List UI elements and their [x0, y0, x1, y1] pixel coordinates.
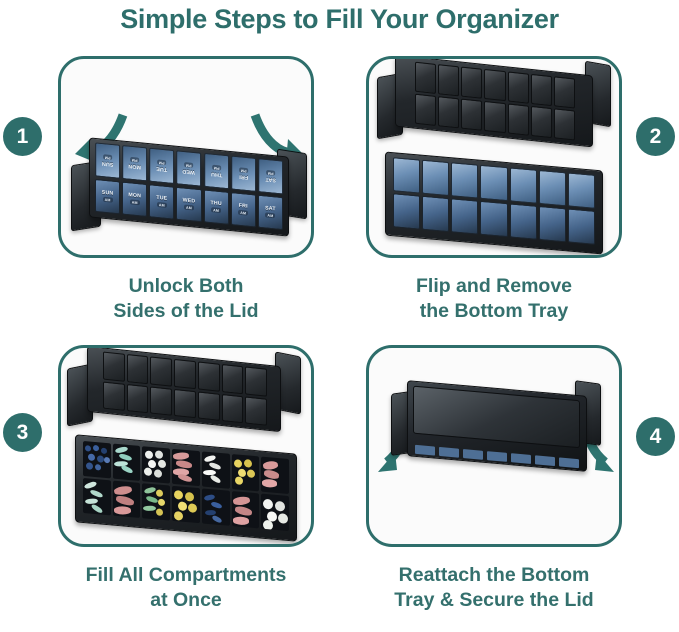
period-label: AM — [265, 213, 275, 219]
filled-cell-yellow-round — [172, 486, 200, 523]
lid-cell — [415, 62, 436, 94]
period-label: PM — [238, 168, 248, 174]
filled-cell-pink-tablets — [261, 457, 289, 494]
filled-tray-assembly — [75, 434, 297, 541]
lid-cell — [508, 71, 529, 103]
day-label: TUE — [156, 166, 167, 173]
filled-cell-pink-caplets — [172, 449, 200, 486]
closed-organizer — [407, 380, 587, 472]
filled-cell-yellow-tablets — [232, 454, 260, 491]
day-label: TUE — [156, 195, 167, 202]
period-label: PM — [157, 160, 167, 166]
lid-cell — [438, 96, 459, 128]
day-label: THU — [211, 200, 222, 207]
tray-cell — [539, 170, 566, 206]
filled-cell-white-capsules — [202, 451, 230, 488]
lid-cell — [103, 381, 125, 411]
lid-cell — [150, 386, 172, 416]
step-3-caption: Fill All Compartments at Once — [58, 563, 314, 612]
lid-cell — [484, 69, 505, 101]
lid-cell — [198, 361, 220, 391]
step-2-caption-line-2: the Bottom Tray — [366, 299, 622, 324]
filled-cell-green-capsules — [113, 444, 141, 481]
period-label: PM — [184, 162, 194, 168]
tray-cell — [539, 206, 566, 242]
lid-cell — [103, 351, 125, 381]
compartment-am-thu: THU AM — [204, 189, 229, 225]
tray-cell — [568, 172, 595, 208]
period-label: AM — [157, 202, 167, 208]
step-2-caption: Flip and Remove the Bottom Tray — [366, 274, 622, 323]
lid-cell — [484, 101, 505, 133]
filled-cell-white-tablets — [142, 446, 170, 483]
filled-cell-blue-capsules — [202, 488, 230, 525]
lid-cell — [554, 76, 575, 108]
period-label: AM — [211, 207, 221, 213]
lid-and-tray-separated-scene — [369, 59, 619, 255]
lid-cell — [174, 388, 196, 418]
period-label: AM — [130, 200, 140, 206]
step-number-badge-3: 3 — [3, 413, 42, 452]
organizer-closed-scene: SUN PM MON PM TUE PM — [61, 59, 311, 255]
day-label: SUN — [102, 160, 114, 167]
filled-cell-green-yellow-mix — [142, 483, 170, 520]
lid-cell — [531, 74, 552, 106]
compartment-pm-thu: THU PM — [204, 153, 229, 189]
step-2-caption-line-1: Flip and Remove — [366, 274, 622, 299]
period-label: AM — [103, 197, 113, 203]
tray-cell — [451, 198, 478, 234]
period-label: AM — [184, 205, 194, 211]
step-1: SUN PM MON PM TUE PM — [58, 56, 314, 323]
tray-cell — [568, 208, 595, 244]
lid-cell — [461, 67, 482, 99]
lid-cell — [198, 391, 220, 421]
day-label: FRI — [239, 203, 248, 210]
step-4: Reattach the Bottom Tray & Secure the Li… — [366, 345, 622, 612]
step-1-caption-line-2: Sides of the Lid — [58, 299, 314, 324]
tray-cell — [393, 193, 420, 229]
day-label: MON — [128, 192, 141, 199]
step-2: Flip and Remove the Bottom Tray — [366, 56, 622, 323]
period-label: PM — [130, 157, 140, 163]
compartment-am-sat: SAT AM — [258, 194, 283, 230]
day-label: WED — [183, 168, 196, 175]
day-label: SAT — [265, 176, 276, 183]
lid-assembly — [395, 56, 593, 147]
lid-cell — [245, 366, 267, 396]
step-4-caption: Reattach the Bottom Tray & Secure the Li… — [366, 563, 622, 612]
filled-cell-rose-caplets — [113, 481, 141, 518]
day-label: MON — [128, 163, 141, 170]
step-2-image-panel — [366, 56, 622, 258]
lid-cell — [554, 108, 575, 140]
compartment-am-wed: WED AM — [176, 186, 201, 222]
compartment-pm-tue: TUE PM — [149, 148, 174, 184]
step-number-badge-2: 2 — [636, 117, 675, 156]
lid-cell — [461, 99, 482, 131]
lid-cell — [531, 106, 552, 138]
lid-cell — [438, 64, 459, 96]
filled-cell-mint-capsules — [83, 478, 111, 515]
compartment-pm-wed: WED PM — [176, 151, 201, 187]
compartment-am-fri: FRI AM — [231, 192, 256, 228]
lid-cell — [415, 94, 436, 126]
tray-cell — [510, 167, 537, 203]
step-1-caption: Unlock Both Sides of the Lid — [58, 274, 314, 323]
tray-cell — [480, 165, 507, 201]
lid-cell — [150, 356, 172, 386]
compartment-pm-sun: SUN PM — [95, 143, 120, 179]
step-3-caption-line-1: Fill All Compartments — [58, 563, 314, 588]
compartment-pm-mon: MON PM — [122, 146, 147, 182]
filled-cell-blue-tablets — [83, 441, 111, 478]
day-label: WED — [183, 198, 196, 205]
tray-cell — [422, 160, 449, 196]
period-label: AM — [238, 210, 248, 216]
compartment-pm-fri: FRI PM — [231, 156, 256, 192]
lid-cell — [508, 103, 529, 135]
infographic-page: Simple Steps to Fill Your Organizer — [0, 0, 679, 632]
steps-grid: SUN PM MON PM TUE PM — [0, 56, 679, 632]
day-label: SUN — [102, 190, 114, 197]
lid-cell — [222, 393, 244, 423]
tray-filled-with-pills-scene — [61, 348, 311, 544]
period-label: PM — [103, 154, 113, 160]
page-title: Simple Steps to Fill Your Organizer — [0, 4, 679, 35]
step-3-caption-line-2: at Once — [58, 588, 314, 613]
lid-cell — [127, 383, 149, 413]
tray-cell — [393, 157, 420, 193]
period-label: PM — [266, 170, 276, 176]
step-4-caption-line-2: Tray & Secure the Lid — [366, 588, 622, 613]
compartment-am-tue: TUE AM — [149, 184, 174, 220]
tray-cell — [510, 203, 537, 239]
tray-cell — [451, 162, 478, 198]
filled-cell-pink-oblong — [232, 491, 260, 528]
step-4-image-panel — [366, 345, 622, 547]
compartment-pm-sat: SAT PM — [258, 159, 283, 195]
period-label: PM — [211, 165, 221, 171]
step-1-caption-line-1: Unlock Both — [58, 274, 314, 299]
tray-cell — [480, 201, 507, 237]
filled-cell-white-round — [261, 494, 289, 531]
step-1-image-panel: SUN PM MON PM TUE PM — [58, 56, 314, 258]
lid-cell — [245, 396, 267, 426]
tray-cell — [422, 196, 449, 232]
step-4-caption-line-1: Reattach the Bottom — [366, 563, 622, 588]
lid-cell — [127, 354, 149, 384]
lid-assembly — [87, 346, 281, 432]
lid-cell — [174, 359, 196, 389]
step-3-image-panel — [58, 345, 314, 547]
step-number-badge-4: 4 — [636, 417, 675, 456]
lid-cell — [222, 364, 244, 394]
step-number-badge-1: 1 — [3, 117, 42, 156]
day-label: FRI — [239, 174, 248, 181]
bottom-tray-assembly — [385, 151, 603, 254]
compartment-am-mon: MON AM — [122, 181, 147, 217]
step-3: Fill All Compartments at Once — [58, 345, 314, 612]
day-label: SAT — [265, 206, 276, 213]
organizer-closed-secured-scene — [369, 348, 619, 544]
day-label: THU — [211, 171, 222, 178]
compartment-am-sun: SUN AM — [95, 178, 120, 214]
